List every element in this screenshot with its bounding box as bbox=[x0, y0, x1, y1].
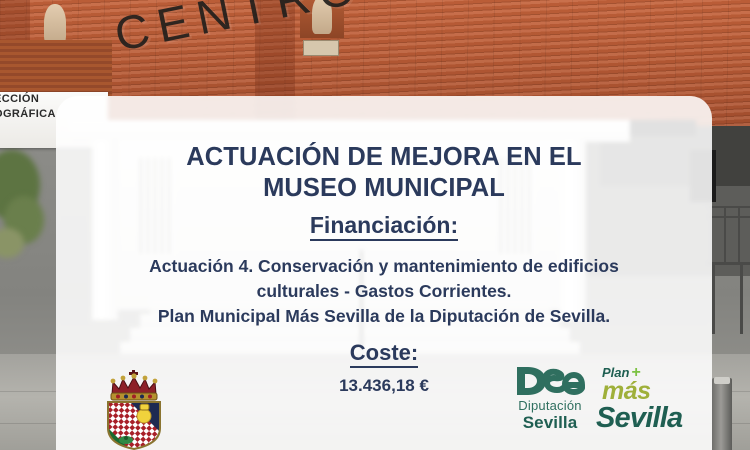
title-line-1: ACTUACIÓN DE MEJORA EN EL bbox=[56, 142, 712, 173]
sevilla-word: Sevilla bbox=[596, 403, 712, 433]
diputacion-label-line1: Diputación bbox=[508, 398, 592, 413]
coat-of-arms bbox=[92, 364, 176, 450]
coat-of-arms-icon bbox=[92, 364, 176, 450]
bollard-cap bbox=[714, 377, 730, 384]
mas-word: más bbox=[596, 379, 712, 403]
railing-bar bbox=[706, 206, 750, 208]
bollard bbox=[712, 378, 732, 450]
cost-heading-text: Coste: bbox=[350, 340, 418, 368]
financing-body: Actuación 4. Conservación y mantenimient… bbox=[62, 254, 706, 329]
sign-backing-board bbox=[0, 40, 112, 96]
diputacion-label-line2: Sevilla bbox=[508, 413, 592, 432]
info-card-panel: ACTUACIÓN DE MEJORA EN EL MUSEO MUNICIPA… bbox=[56, 96, 712, 450]
plan-mas-sevilla-logo: Plan + más Sevilla bbox=[596, 362, 712, 438]
title-line-2: MUSEO MUNICIPAL bbox=[56, 173, 712, 204]
railing-post bbox=[740, 264, 743, 334]
railing-post bbox=[724, 206, 726, 264]
financing-line-1: Actuación 4. Conservación y mantenimient… bbox=[62, 254, 706, 279]
railing-bar bbox=[706, 216, 750, 218]
financing-heading-text: Financiación: bbox=[310, 212, 458, 241]
financing-line-2: culturales - Gastos Corrientes. bbox=[62, 279, 706, 304]
poster-root: CENTRO DE INTERPR ECCIÓN OGRÁFICA bbox=[0, 0, 750, 450]
financing-line-3: Plan Municipal Más Sevilla de la Diputac… bbox=[62, 304, 706, 329]
diputacion-monogram-icon bbox=[512, 364, 588, 398]
railing-post bbox=[738, 206, 740, 264]
statue-bust bbox=[44, 4, 66, 44]
financing-heading: Financiación: bbox=[56, 212, 712, 239]
crown-icon bbox=[111, 370, 158, 400]
railing-post bbox=[712, 264, 715, 334]
page-title: ACTUACIÓN DE MEJORA EN EL MUSEO MUNICIPA… bbox=[56, 142, 712, 204]
diputacion-sevilla-logo: Diputación Sevilla bbox=[508, 364, 592, 438]
